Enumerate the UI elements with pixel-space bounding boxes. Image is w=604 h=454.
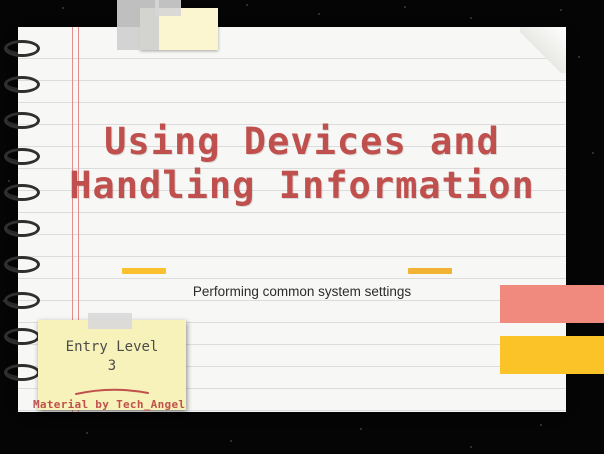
spiral-ring-icon	[4, 328, 40, 345]
page-curl	[520, 27, 566, 73]
level-label: Entry Level	[38, 338, 186, 357]
level-note-text: Entry Level 3	[38, 338, 186, 376]
hand-drawn-underline-icon	[74, 386, 150, 398]
spiral-ring-icon	[4, 220, 40, 237]
background-speck	[578, 56, 580, 58]
background-speck	[230, 440, 232, 442]
title-line-1: Using Devices and	[0, 120, 604, 164]
background-speck	[86, 432, 88, 434]
background-speck	[560, 9, 562, 11]
spiral-binding	[4, 40, 38, 400]
background-speck	[246, 4, 248, 6]
background-speck	[470, 446, 472, 448]
tape-strip	[155, 0, 181, 16]
title-line-2: Handling Information	[0, 164, 604, 208]
spiral-ring-icon	[4, 364, 40, 381]
spiral-ring-icon	[4, 40, 40, 57]
highlight-mark-left	[122, 268, 166, 274]
tape-strip	[88, 313, 132, 329]
highlight-mark-right	[408, 268, 452, 274]
background-speck	[360, 428, 362, 430]
tape-strip	[117, 0, 159, 50]
spiral-ring-icon	[4, 256, 40, 273]
credit-text: Material by Tech_Angel	[33, 398, 185, 411]
background-speck	[404, 6, 406, 8]
slide-canvas: Using Devices and Handling Information P…	[0, 0, 604, 454]
level-value: 3	[38, 357, 186, 376]
background-speck	[540, 424, 542, 426]
accent-block-yellow	[500, 336, 604, 374]
spiral-ring-icon	[4, 76, 40, 93]
background-speck	[62, 7, 64, 9]
background-speck	[470, 17, 472, 19]
accent-block-red	[500, 285, 604, 323]
background-speck	[318, 13, 320, 15]
page-title: Using Devices and Handling Information	[0, 120, 604, 207]
